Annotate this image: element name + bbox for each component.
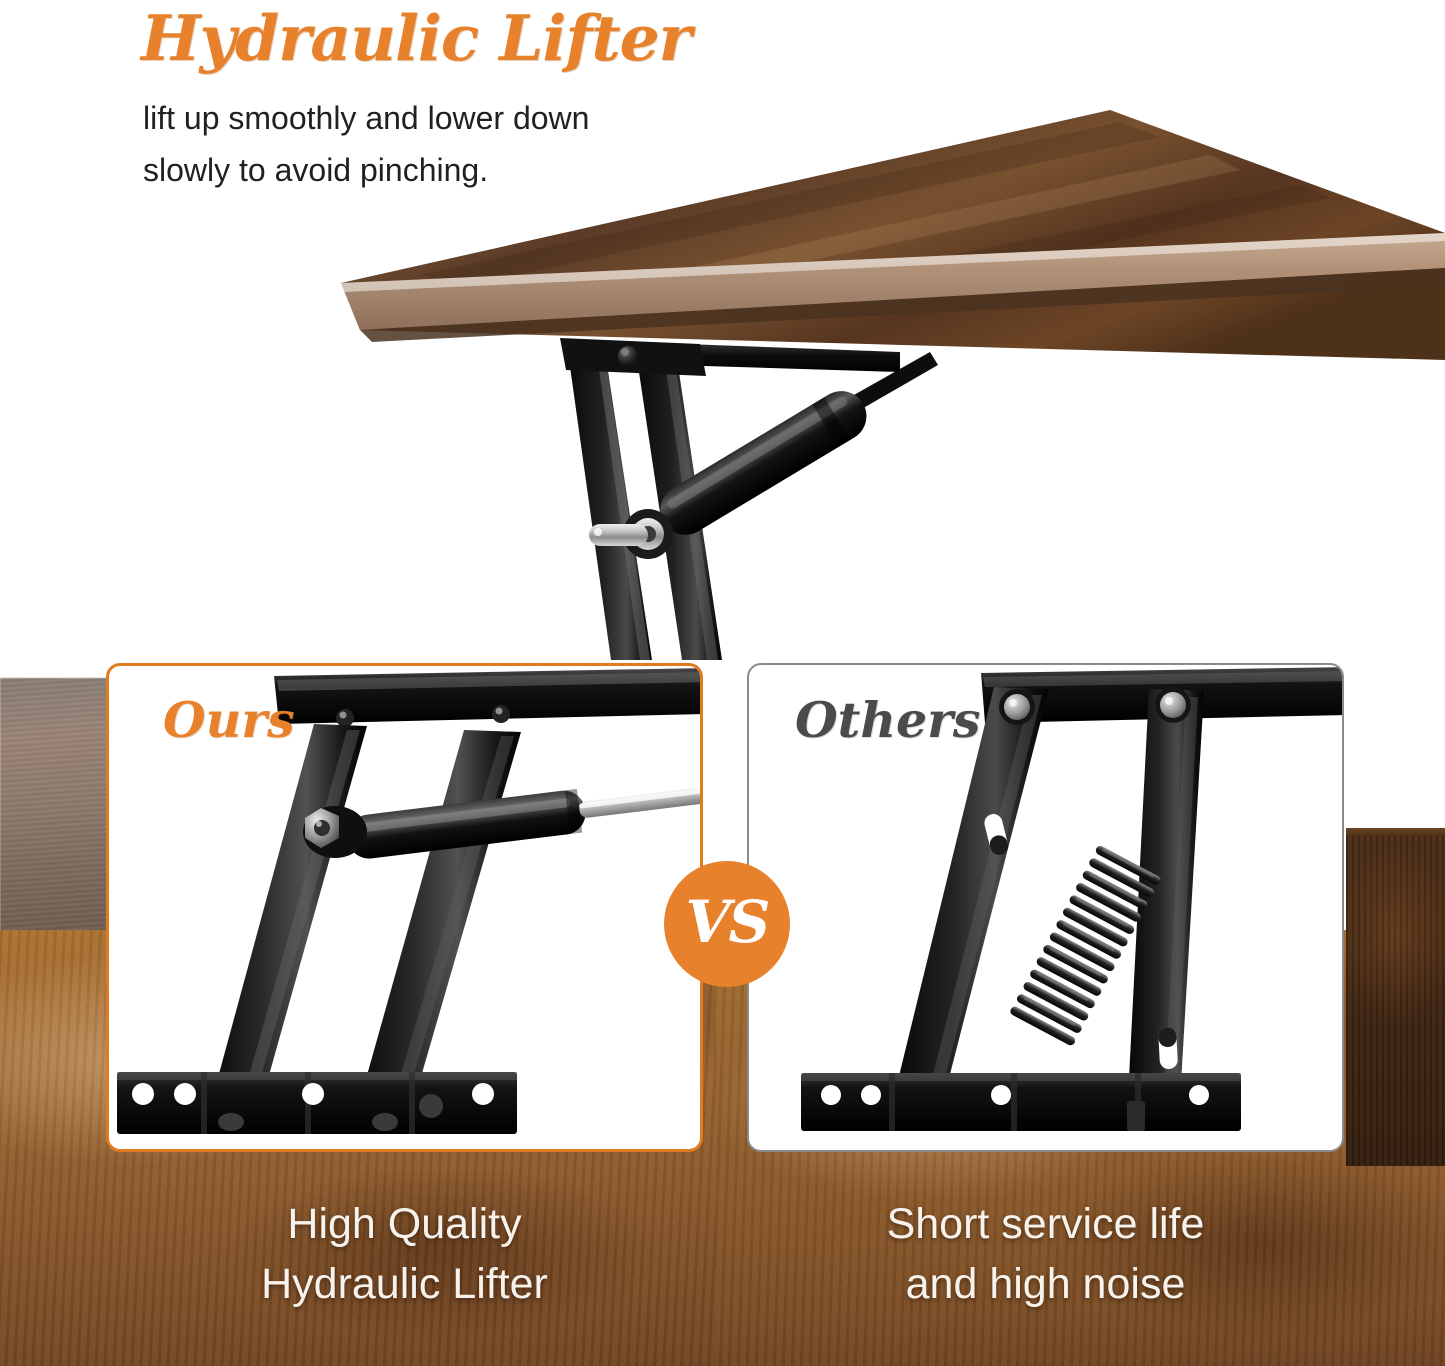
others-caption-line-1: Short service life xyxy=(747,1194,1344,1254)
ours-caption-line-2: Hydraulic Lifter xyxy=(106,1254,703,1314)
subtitle-line-2: slowly to avoid pinching. xyxy=(143,144,589,196)
ours-caption-line-1: High Quality xyxy=(106,1194,703,1254)
others-caption: Short service life and high noise xyxy=(747,1194,1344,1314)
vs-label: VS xyxy=(686,888,769,956)
wood-block-right-dark xyxy=(1346,836,1445,1166)
subtitle-line-1: lift up smoothly and lower down xyxy=(143,92,589,144)
page-title: Hydraulic Lifter xyxy=(141,2,691,74)
others-tag-label: Others xyxy=(795,694,981,746)
ours-caption: High Quality Hydraulic Lifter xyxy=(106,1194,703,1314)
page-subtitle: lift up smoothly and lower down slowly t… xyxy=(143,92,589,196)
ours-tag-label: Ours xyxy=(163,694,295,746)
product-infographic: Ours xyxy=(0,0,1445,1366)
others-caption-line-2: and high noise xyxy=(747,1254,1344,1314)
vs-badge: VS xyxy=(664,861,790,987)
